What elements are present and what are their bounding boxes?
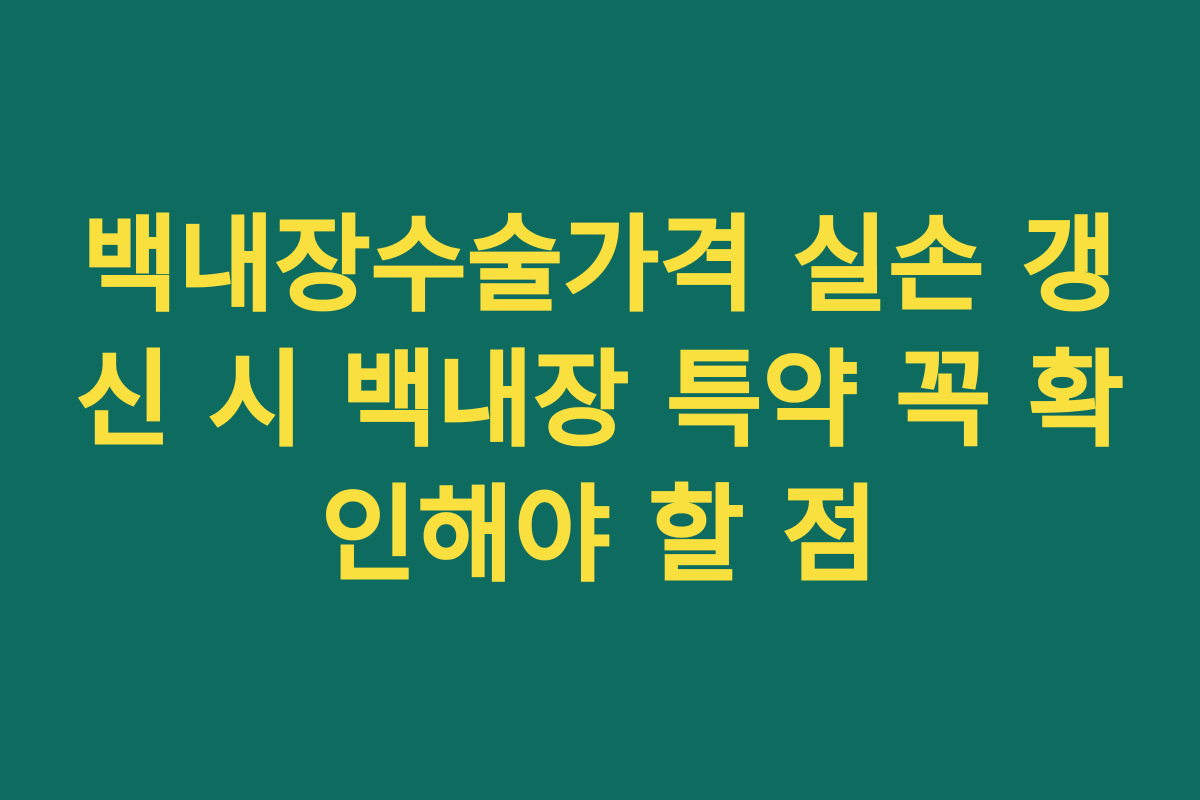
- headline-line-2: 신 시 백내장 특약 꼭 확: [70, 333, 1130, 468]
- headline-line-1: 백내장수술가격 실손 갱: [70, 198, 1130, 333]
- banner-headline: 백내장수술가격 실손 갱 신 시 백내장 특약 꼭 확 인해야 할 점: [70, 198, 1130, 603]
- headline-line-3: 인해야 할 점: [70, 468, 1130, 603]
- title-banner: 백내장수술가격 실손 갱 신 시 백내장 특약 꼭 확 인해야 할 점: [0, 0, 1200, 800]
